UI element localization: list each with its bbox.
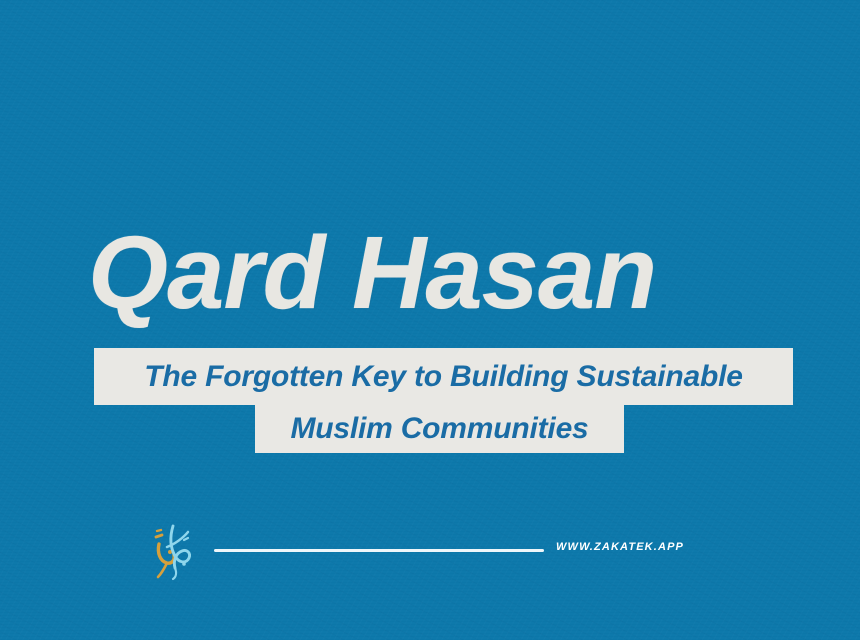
subtitle-text-line-2: Muslim Communities bbox=[290, 412, 588, 446]
footer: WWW.ZAKATEK.APP bbox=[0, 518, 860, 588]
arabic-calligraphy-icon bbox=[148, 520, 202, 582]
poster-canvas: Qard Hasan The Forgotten Key to Building… bbox=[0, 0, 860, 640]
subtitle-highlight-line-2: Muslim Communities bbox=[255, 404, 624, 453]
footer-divider bbox=[214, 549, 544, 552]
subtitle-text-line-1: The Forgotten Key to Building Sustainabl… bbox=[144, 360, 742, 394]
page-title: Qard Hasan bbox=[88, 218, 808, 328]
website-url[interactable]: WWW.ZAKATEK.APP bbox=[556, 541, 684, 553]
subtitle-highlight-line-1: The Forgotten Key to Building Sustainabl… bbox=[94, 348, 793, 405]
brand-logo bbox=[148, 520, 202, 582]
